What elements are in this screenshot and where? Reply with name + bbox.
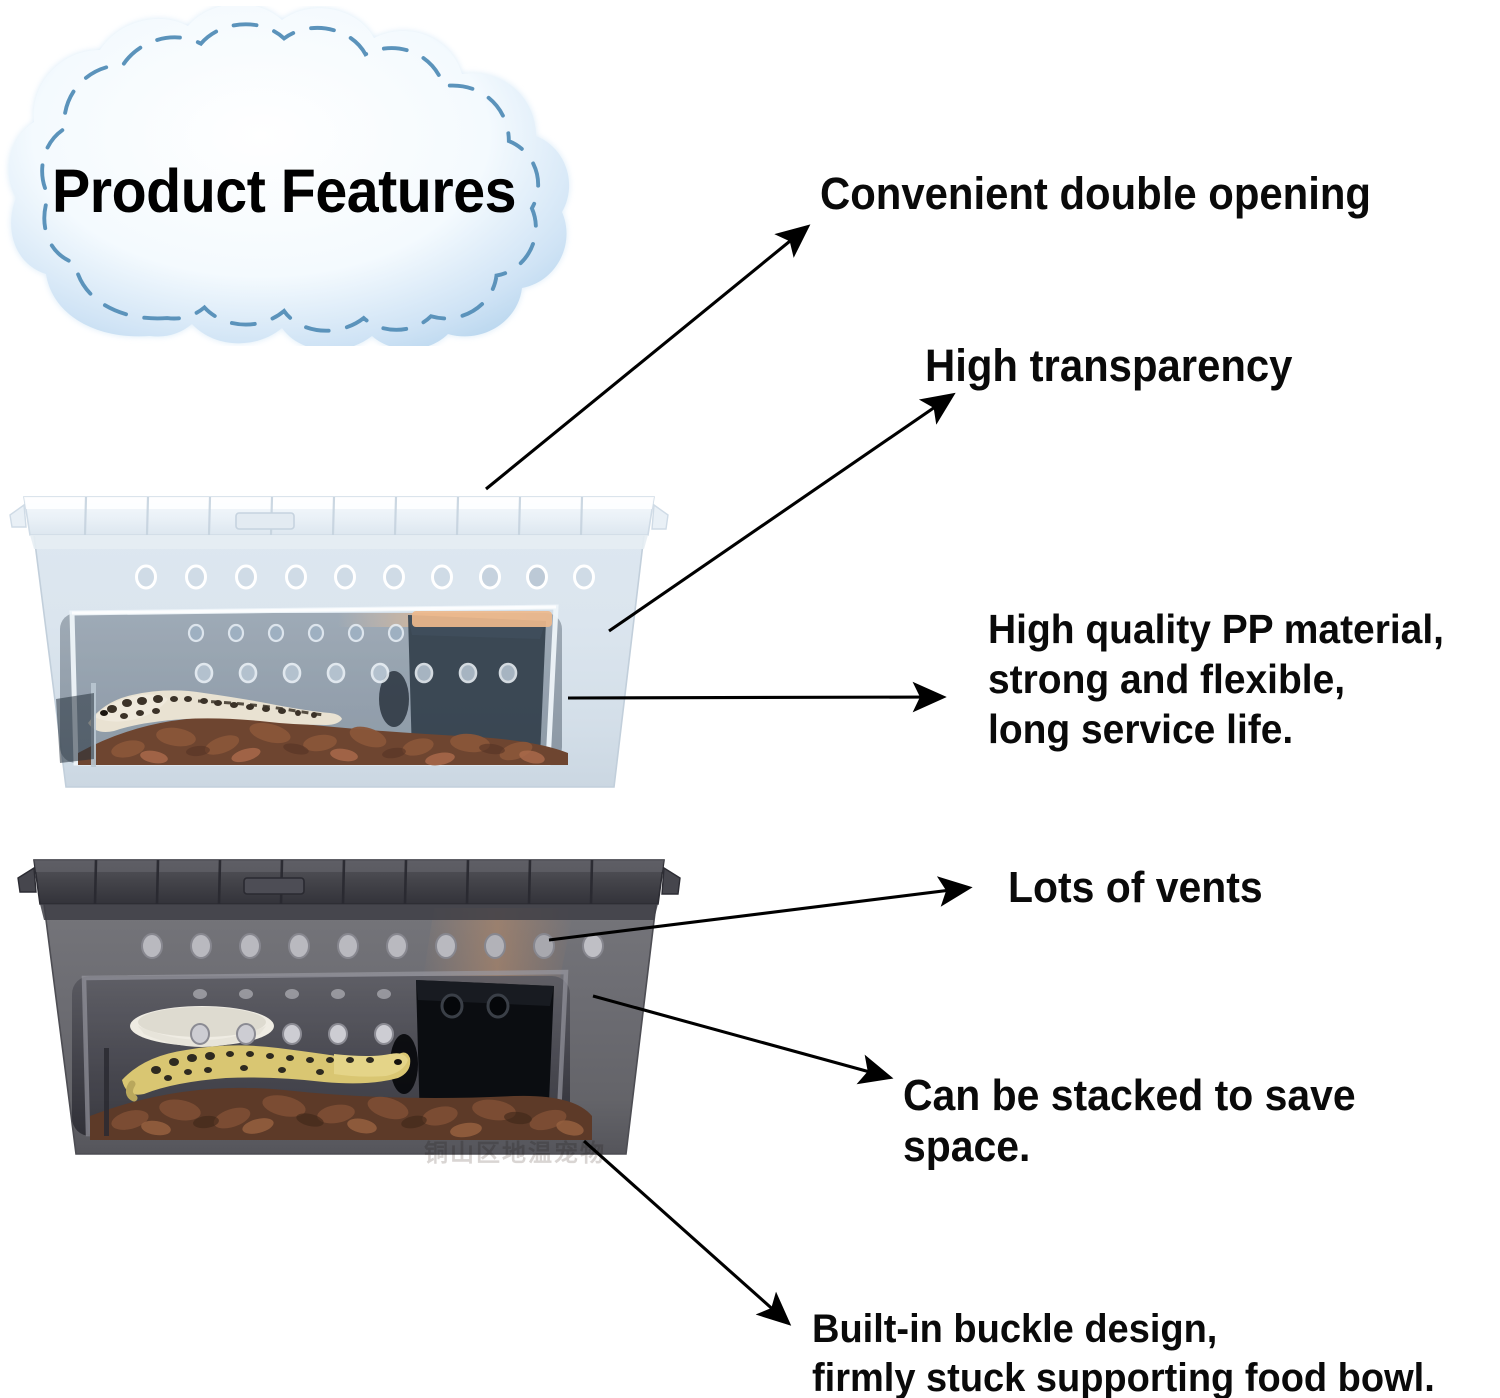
callout-buckle-design: Built-in buckle design, firmly stuck sup… [812, 1305, 1435, 1398]
callout-lots-of-vents: Lots of vents [1008, 862, 1263, 913]
watermark-text: 铜山区地温宠物 [424, 1133, 606, 1168]
product-features-badge: Product Features [0, 6, 600, 346]
callout-double-opening: Convenient double opening [820, 168, 1371, 221]
callout-pp-material: High quality PP material, strong and fle… [988, 604, 1444, 754]
page-title: Product Features [52, 156, 541, 226]
product-feature-infographic: Product Features [0, 0, 1500, 1398]
product-image-smoke-terrarium [14, 848, 682, 1166]
callout-high-transparency: High transparency [925, 340, 1292, 393]
callout-stackable: Can be stacked to save space. [903, 1070, 1458, 1173]
arrow-buckle-design [584, 1141, 787, 1322]
product-image-clear-terrarium [8, 487, 670, 799]
